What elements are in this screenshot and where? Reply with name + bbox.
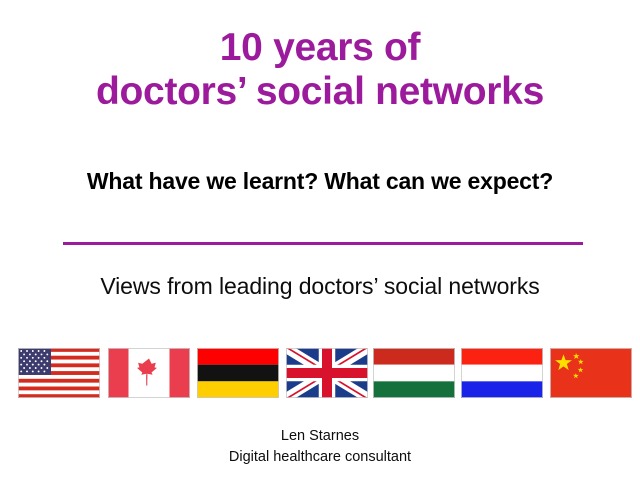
slide-footer: Len Starnes Digital healthcare consultan… bbox=[0, 426, 640, 467]
flag-hungary bbox=[373, 348, 455, 398]
flag-united-kingdom bbox=[286, 348, 368, 398]
slide-subtitle: What have we learnt? What can we expect? bbox=[0, 168, 640, 195]
flag-germany bbox=[197, 348, 279, 398]
presenter-role: Digital healthcare consultant bbox=[0, 447, 640, 468]
divider-rule bbox=[63, 242, 583, 245]
country-flags-row bbox=[18, 348, 632, 399]
title-line-2: doctors’ social networks bbox=[0, 70, 640, 114]
slide-title: 10 years of doctors’ social networks bbox=[0, 26, 640, 113]
flag-canada bbox=[108, 348, 190, 398]
flag-china bbox=[550, 348, 632, 398]
slide-tagline: Views from leading doctors’ social netwo… bbox=[0, 273, 640, 300]
flag-netherlands bbox=[461, 348, 543, 398]
presenter-name: Len Starnes bbox=[0, 426, 640, 447]
presentation-slide: 10 years of doctors’ social networks Wha… bbox=[0, 0, 640, 480]
flag-united-states bbox=[18, 348, 100, 398]
title-line-1: 10 years of bbox=[0, 26, 640, 70]
